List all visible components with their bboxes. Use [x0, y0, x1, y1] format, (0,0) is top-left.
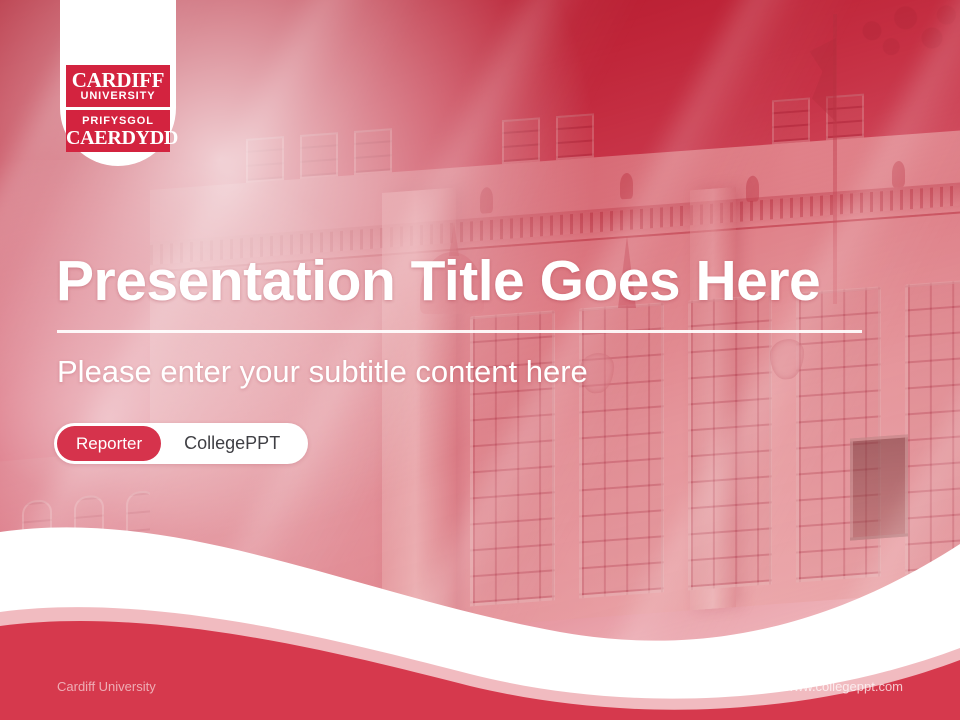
logo-welsh-block: PRIFYSGOL CAERDYDD [66, 110, 170, 152]
presentation-subtitle[interactable]: Please enter your subtitle content here [57, 352, 817, 392]
cardiff-university-logo: CARDIFF UNIVERSITY PRIFYSGOL CAERDYDD [60, 0, 176, 166]
footer-institution: Cardiff University [57, 679, 156, 694]
title-underline-rule [57, 330, 862, 333]
logo-text-cardiff: CARDIFF [66, 70, 170, 90]
title-slide: CARDIFF UNIVERSITY PRIFYSGOL CAERDYDD Pr… [0, 0, 960, 720]
reporter-value[interactable]: CollegePPT [164, 433, 304, 454]
logo-english-block: CARDIFF UNIVERSITY [66, 65, 170, 107]
reporter-label: Reporter [57, 426, 161, 461]
presentation-title[interactable]: Presentation Title Goes Here [56, 247, 916, 315]
logo-text-caerdydd: CAERDYDD [66, 128, 170, 148]
reporter-pill[interactable]: Reporter CollegePPT [54, 423, 308, 464]
logo-text-university: UNIVERSITY [66, 90, 170, 103]
footer-website[interactable]: www.collegeppt.com [785, 679, 904, 694]
